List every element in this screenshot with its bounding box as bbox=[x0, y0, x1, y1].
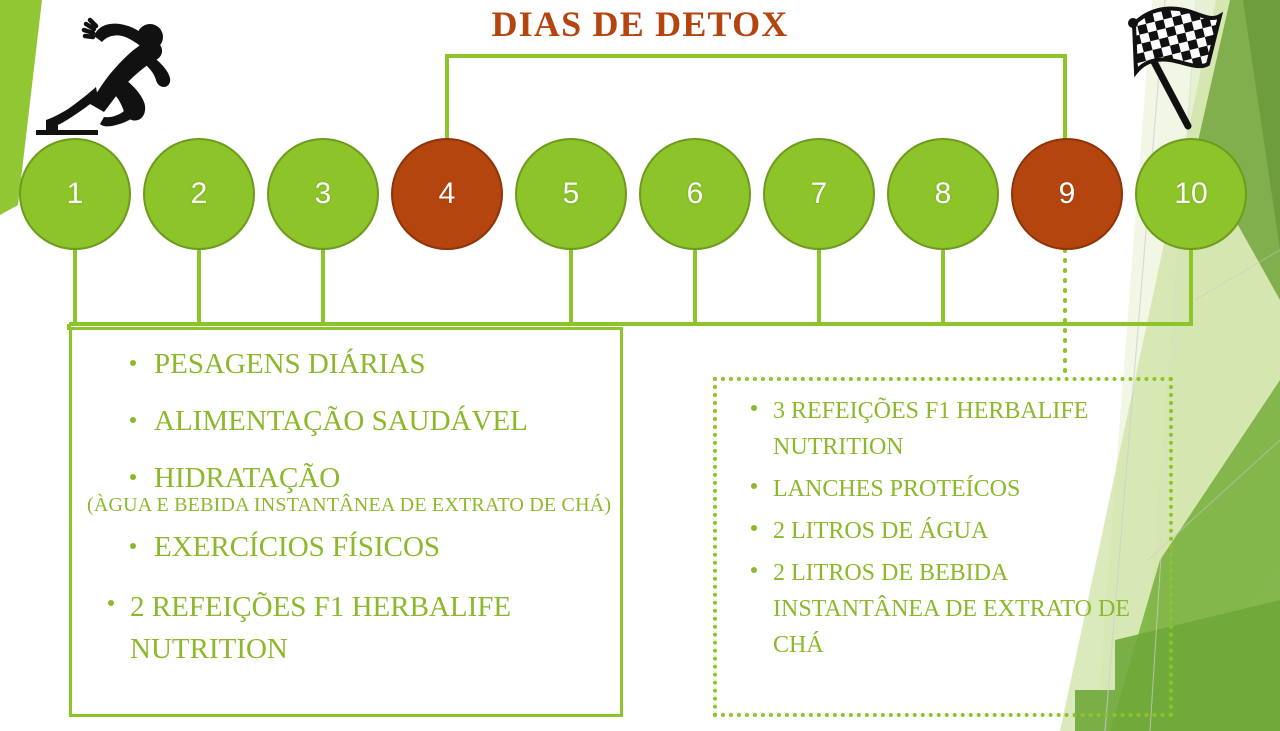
list-item-label: 2 REFEIÇÕES F1 HERBALIFE NUTRITION bbox=[130, 591, 511, 665]
day-label: 7 bbox=[811, 179, 828, 209]
list-item-label: EXERCÍCIOS FÍSICOS bbox=[154, 531, 440, 563]
page-title: DIAS DE DETOX bbox=[0, 3, 1280, 45]
list-item-label: 2 LITROS DE BEBIDA INSTANTÂNEA DE EXTRAT… bbox=[773, 560, 1130, 658]
top-bracket bbox=[447, 56, 1065, 152]
bullet-dot bbox=[130, 543, 136, 549]
list-item-label: ALIMENTAÇÃO SAUDÁVEL bbox=[154, 405, 528, 437]
bullet-dot bbox=[108, 600, 114, 606]
list-item-label: HIDRATAÇÃO bbox=[154, 462, 340, 494]
detox-day-list: 3 REFEIÇÕES F1 HERBALIFE NUTRITION LANCH… bbox=[727, 393, 1155, 663]
day-label: 10 bbox=[1174, 179, 1207, 209]
list-item: ALIMENTAÇÃO SAUDÁVEL bbox=[82, 403, 610, 440]
list-item: EXERCÍCIOS FÍSICOS bbox=[82, 529, 610, 566]
daily-routine-panel: PESAGENS DIÁRIAS ALIMENTAÇÃO SAUDÁVEL HI… bbox=[69, 327, 623, 717]
day-label: 9 bbox=[1059, 179, 1076, 209]
list-item: HIDRATAÇÃO bbox=[82, 460, 610, 497]
bullet-dot bbox=[751, 405, 757, 411]
day-label: 5 bbox=[563, 179, 580, 209]
list-item: 2 LITROS DE BEBIDA INSTANTÂNEA DE EXTRAT… bbox=[727, 555, 1155, 663]
detox-day-panel: 3 REFEIÇÕES F1 HERBALIFE NUTRITION LANCH… bbox=[713, 377, 1173, 717]
day-label: 3 bbox=[315, 179, 332, 209]
list-item: LANCHES PROTEÍCOS bbox=[727, 471, 1155, 507]
list-item-label: 2 LITROS DE ÁGUA bbox=[773, 518, 988, 544]
day-circle-6[interactable]: 6 bbox=[639, 138, 751, 250]
daily-routine-list: PESAGENS DIÁRIAS ALIMENTAÇÃO SAUDÁVEL HI… bbox=[82, 346, 610, 496]
day-label: 8 bbox=[935, 179, 952, 209]
day-circle-5[interactable]: 5 bbox=[515, 138, 627, 250]
day-circle-10[interactable]: 10 bbox=[1135, 138, 1247, 250]
daily-routine-list-continued: EXERCÍCIOS FÍSICOS 2 REFEIÇÕES F1 HERBAL… bbox=[82, 529, 610, 670]
bullet-dot bbox=[130, 417, 136, 423]
day-circle-8[interactable]: 8 bbox=[887, 138, 999, 250]
bullet-dot bbox=[751, 525, 757, 531]
list-item: 2 REFEIÇÕES F1 HERBALIFE NUTRITION bbox=[82, 586, 610, 670]
list-item: PESAGENS DIÁRIAS bbox=[82, 346, 610, 383]
day-label: 1 bbox=[67, 179, 84, 209]
day-label: 2 bbox=[191, 179, 208, 209]
day-circle-7[interactable]: 7 bbox=[763, 138, 875, 250]
day-circle-9[interactable]: 9 bbox=[1011, 138, 1123, 250]
day-label: 6 bbox=[687, 179, 704, 209]
day-circle-3[interactable]: 3 bbox=[267, 138, 379, 250]
day-circle-4[interactable]: 4 bbox=[391, 138, 503, 250]
bullet-dot bbox=[751, 567, 757, 573]
list-item-label: PESAGENS DIÁRIAS bbox=[154, 348, 426, 380]
day-circle-1[interactable]: 1 bbox=[19, 138, 131, 250]
bullet-dot bbox=[130, 474, 136, 480]
list-item: 3 REFEIÇÕES F1 HERBALIFE NUTRITION bbox=[727, 393, 1155, 465]
list-item-label: 3 REFEIÇÕES F1 HERBALIFE NUTRITION bbox=[773, 398, 1088, 460]
slide-canvas: DIAS DE DETOX bbox=[0, 0, 1280, 731]
bullet-dot bbox=[751, 483, 757, 489]
day-label: 4 bbox=[439, 179, 456, 209]
list-item-label: LANCHES PROTEÍCOS bbox=[773, 476, 1020, 502]
day-circle-2[interactable]: 2 bbox=[143, 138, 255, 250]
list-item: 2 LITROS DE ÁGUA bbox=[727, 513, 1155, 549]
hydration-note: (ÀGUA E BEBIDA INSTANTÂNEA DE EXTRATO DE… bbox=[87, 494, 610, 517]
bullet-dot bbox=[130, 360, 136, 366]
